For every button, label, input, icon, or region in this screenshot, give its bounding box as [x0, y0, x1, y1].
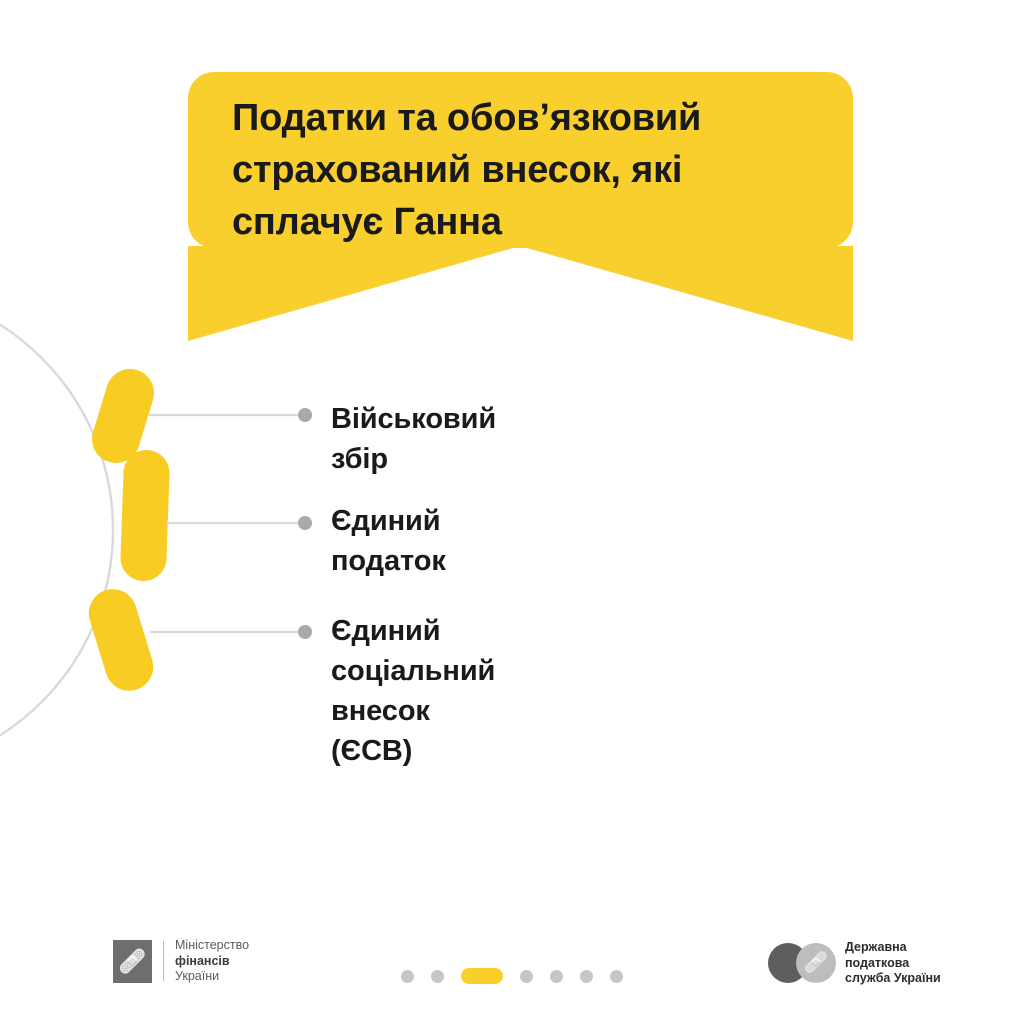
pagination-dot-4[interactable] — [520, 970, 533, 983]
pagination-dot-6[interactable] — [580, 970, 593, 983]
ministry-logo-line-1: Міністерство — [175, 938, 249, 954]
pagination-dot-1[interactable] — [401, 970, 414, 983]
slide-canvas: Податки та обов’язковий страхований внес… — [0, 0, 1024, 1024]
pagination-dot-5[interactable] — [550, 970, 563, 983]
ministry-logo-line-2: фінансів — [175, 954, 249, 970]
pagination-dot-7[interactable] — [610, 970, 623, 983]
pagination-dot-3-active[interactable] — [461, 968, 503, 984]
tax-logo-line-1: Державна — [845, 940, 941, 956]
slide-pagination[interactable] — [0, 968, 1024, 984]
slide-footer: 🩹 Міністерство фінансів України 🩹 Держав… — [0, 0, 1024, 1024]
pagination-dot-2[interactable] — [431, 970, 444, 983]
